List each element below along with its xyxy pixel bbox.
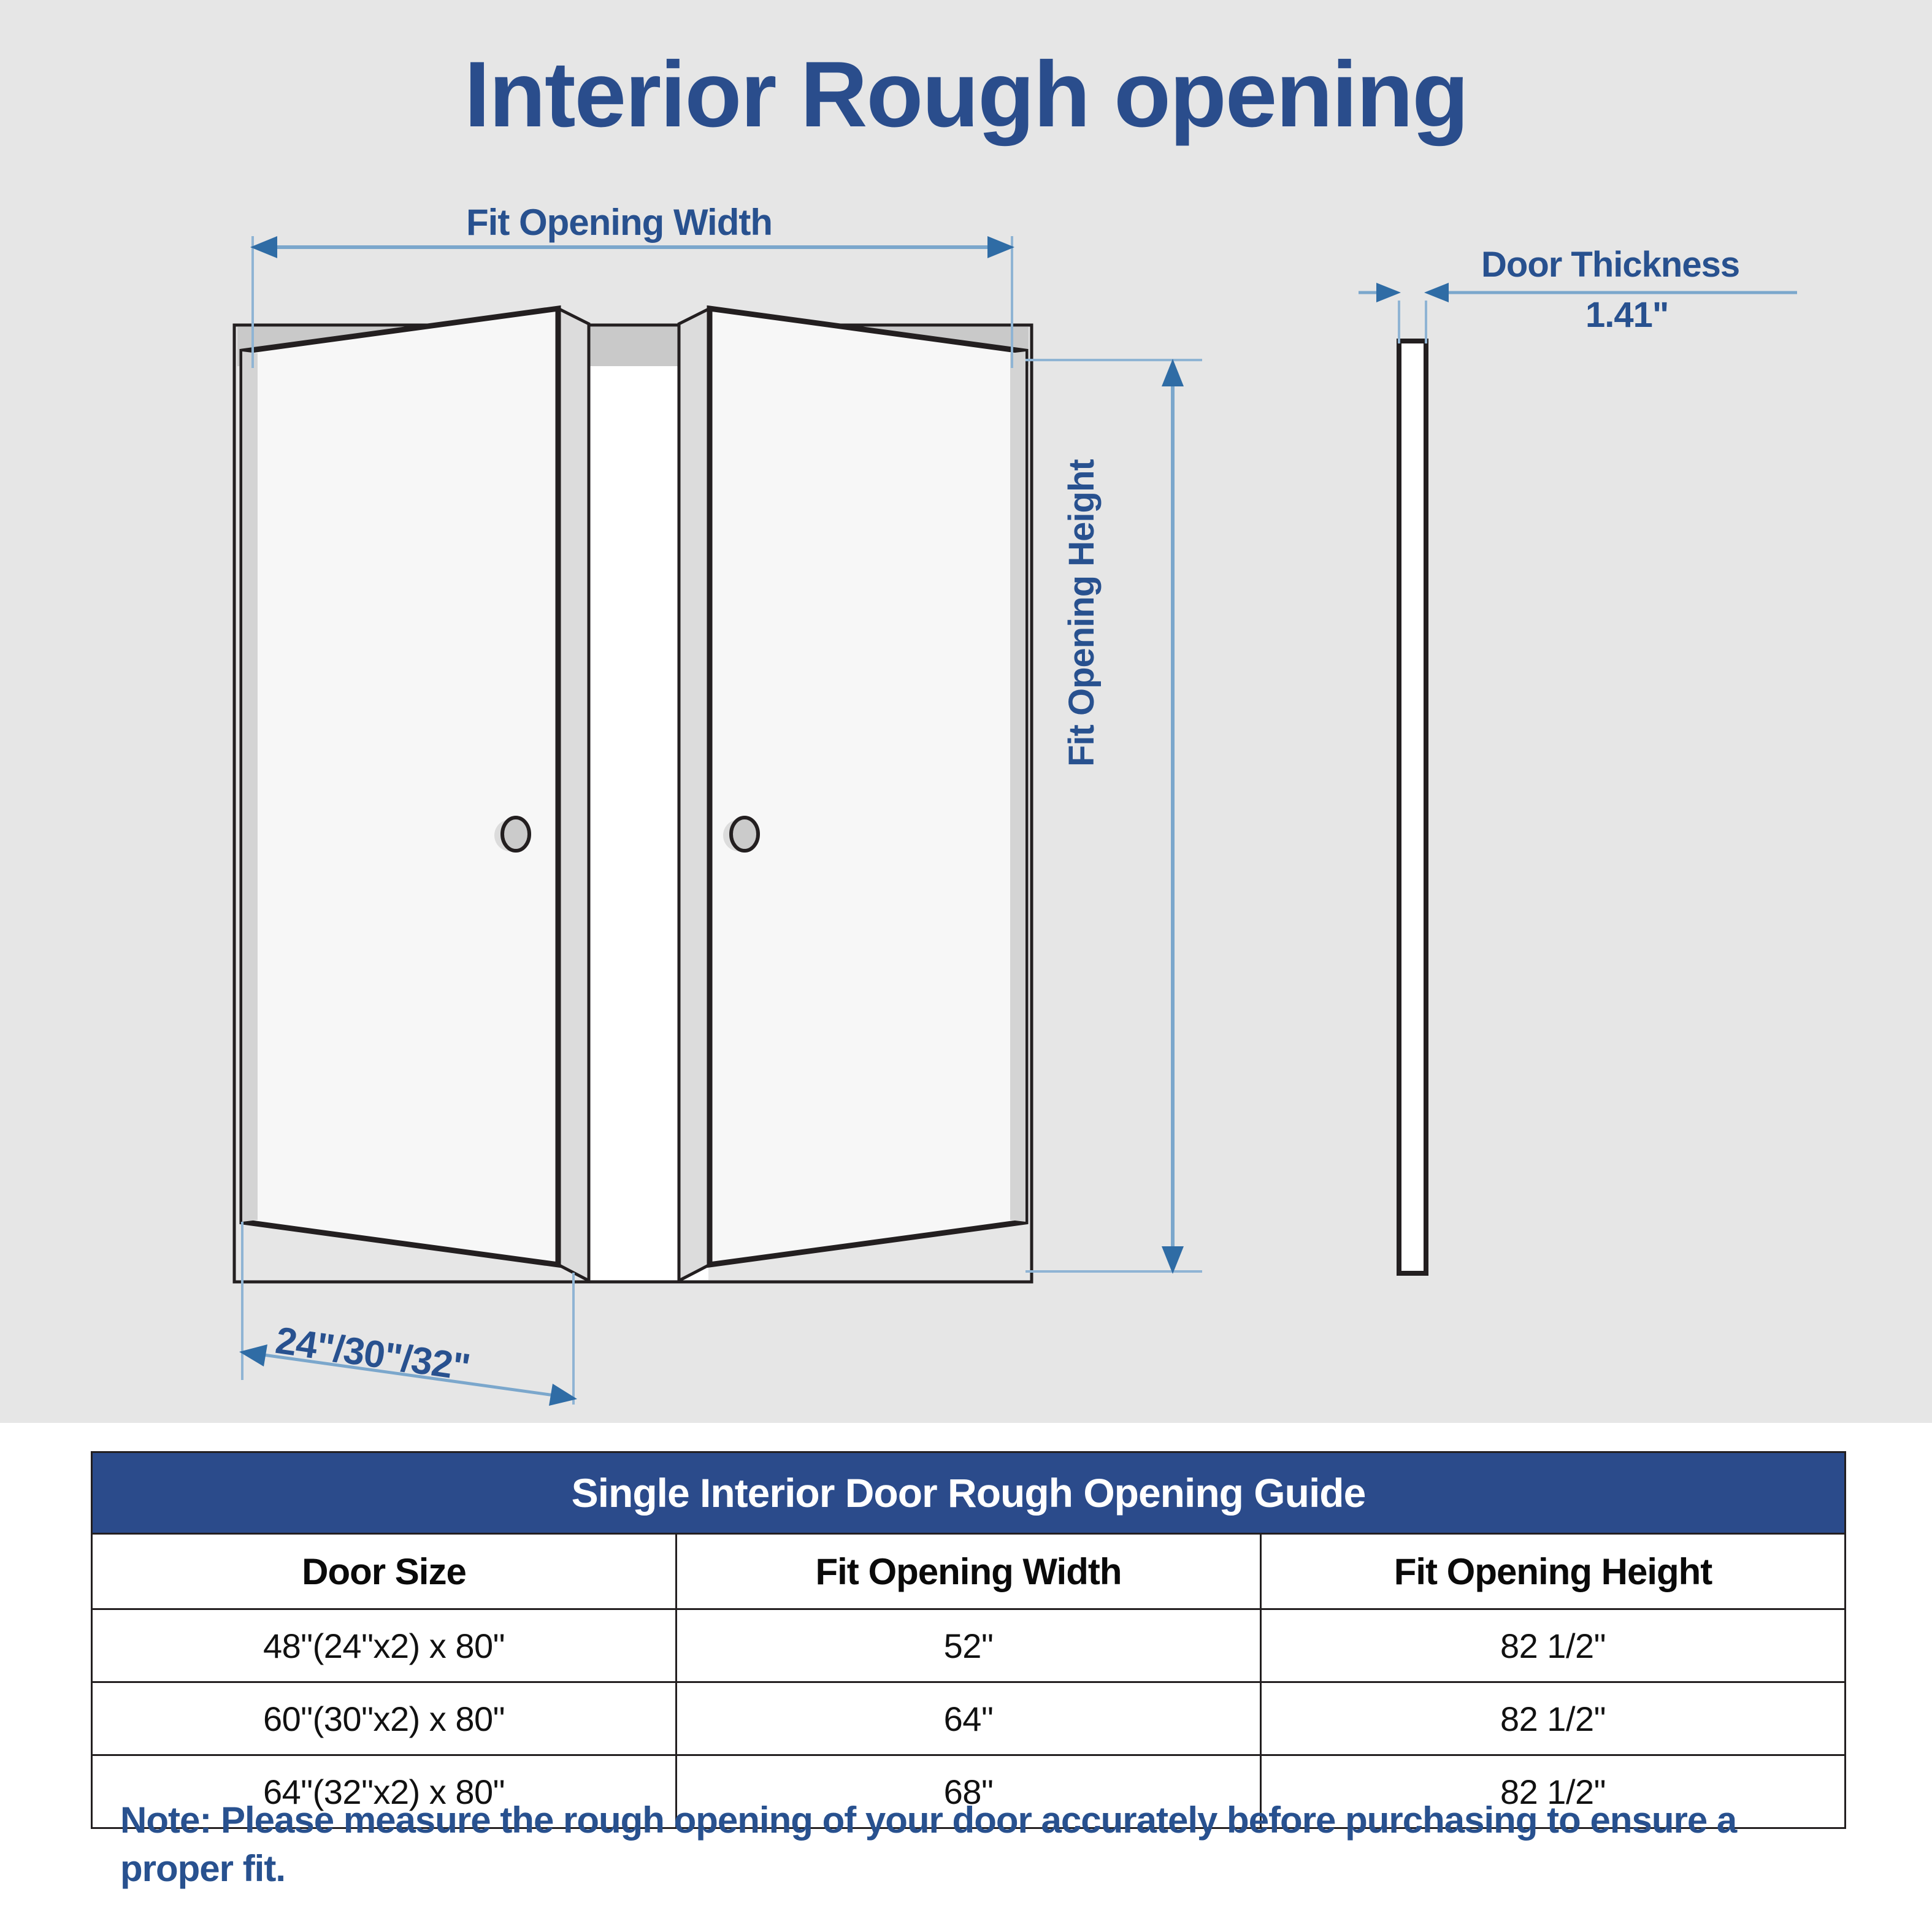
rough-opening-table: Single Interior Door Rough Opening Guide… <box>91 1451 1846 1829</box>
column-header-door-size: Door Size <box>92 1534 677 1609</box>
left-door-knob[interactable] <box>502 818 529 851</box>
cell-fit-height: 82 1/2" <box>1261 1609 1846 1682</box>
thickness-arrow-left <box>1376 283 1401 302</box>
width-dim-arrow-left <box>250 236 277 258</box>
fit-opening-height-label: Fit Opening Height <box>1061 459 1102 767</box>
right-door-stile <box>1010 351 1025 1222</box>
height-dim-arrow-top <box>1162 359 1184 386</box>
table-row: 48"(24"x2) x 80" 52" 82 1/2" <box>92 1609 1846 1682</box>
door-profile-rect <box>1399 341 1426 1273</box>
table-area: Single Interior Door Rough Opening Guide… <box>0 1423 1932 1932</box>
door-side-profile <box>1399 341 1426 1273</box>
table-title-row: Single Interior Door Rough Opening Guide <box>92 1452 1846 1534</box>
right-door-face <box>710 309 1025 1265</box>
cell-fit-height: 82 1/2" <box>1261 1682 1846 1755</box>
left-door <box>242 309 589 1281</box>
diagram-panel: Interior Rough opening <box>0 0 1932 1423</box>
door-diagram <box>0 0 1932 1423</box>
cell-door-size: 48"(24"x2) x 80" <box>92 1609 677 1682</box>
column-header-fit-opening-height: Fit Opening Height <box>1261 1534 1846 1609</box>
cell-fit-width: 52" <box>677 1609 1261 1682</box>
door-rough-opening-infographic: Interior Rough opening <box>0 0 1932 1932</box>
height-dim-arrow-bottom <box>1162 1246 1184 1274</box>
fit-opening-width-label: Fit Opening Width <box>466 201 772 243</box>
left-door-edge-face <box>558 309 589 1281</box>
thickness-arrow-right <box>1424 283 1449 302</box>
door-thickness-label: Door Thickness <box>1481 244 1739 285</box>
table-row: 60"(30"x2) x 80" 64" 82 1/2" <box>92 1682 1846 1755</box>
height-dimension <box>1025 359 1202 1274</box>
thickness-dimension <box>1359 283 1797 343</box>
table-header-row: Door Size Fit Opening Width Fit Opening … <box>92 1534 1846 1609</box>
cell-fit-width: 64" <box>677 1682 1261 1755</box>
width-dim-arrow-right <box>987 236 1014 258</box>
left-door-face <box>242 309 558 1265</box>
right-door <box>679 309 1025 1281</box>
left-door-stile <box>242 351 258 1222</box>
column-header-fit-opening-width: Fit Opening Width <box>677 1534 1261 1609</box>
door-thickness-value: 1.41" <box>1585 294 1668 335</box>
table-title: Single Interior Door Rough Opening Guide <box>92 1452 1846 1534</box>
right-door-edge-face <box>679 309 710 1281</box>
measurement-note: Note: Please measure the rough opening o… <box>120 1796 1838 1893</box>
cell-door-size: 60"(30"x2) x 80" <box>92 1682 677 1755</box>
right-door-knob[interactable] <box>731 818 758 851</box>
